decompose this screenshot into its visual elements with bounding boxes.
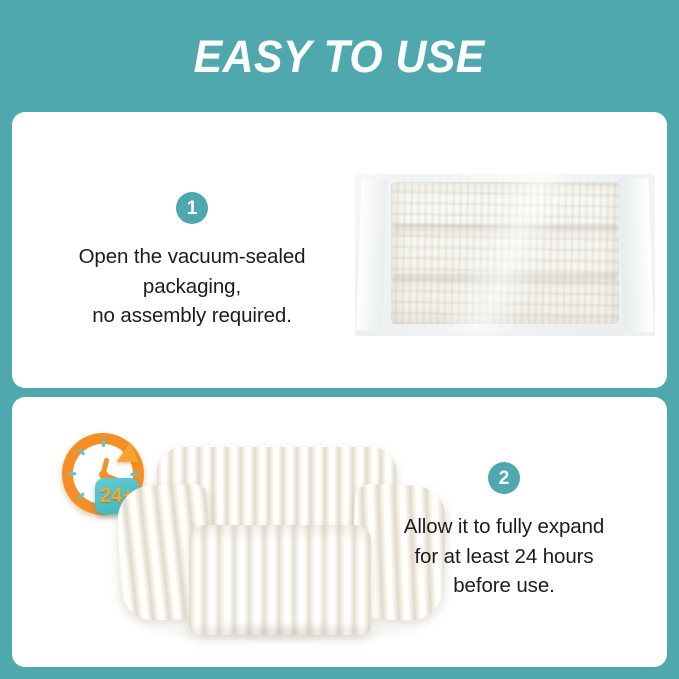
- step-2-number-badge: 2: [488, 462, 520, 494]
- bed-seat-cushion: [189, 525, 371, 635]
- header-banner: EASY TO USE: [0, 0, 679, 112]
- step-card-1: 1 Open the vacuum-sealed packaging, no a…: [12, 112, 667, 388]
- step-2-text-line-1: Allow it to fully expand: [359, 512, 649, 542]
- step-1-number-badge: 1: [176, 192, 208, 224]
- clock-tick-mark: [102, 439, 105, 447]
- easy-to-use-infographic: EASY TO USE 1 Open the vacuum-sealed pac…: [0, 0, 679, 679]
- step-1-text-line-2: packaging,: [22, 272, 362, 302]
- step-card-2: 24+ 2 Allow it to fully expand for: [12, 397, 667, 667]
- compression-band-lower: [393, 274, 617, 288]
- step-1-text-line-1: Open the vacuum-sealed: [22, 242, 362, 272]
- vacuum-sealed-package-image: [355, 170, 655, 340]
- step-2-text-line-2: for at least 24 hours: [359, 542, 649, 572]
- bed-drop-shadow: [143, 621, 425, 643]
- step-1-text-line-3: no assembly required.: [22, 301, 362, 331]
- step-2-content: 2 Allow it to fully expand for at least …: [359, 462, 649, 601]
- step-1-content: 1 Open the vacuum-sealed packaging, no a…: [22, 192, 362, 331]
- clock-tick-mark: [68, 473, 76, 476]
- step-2-text-line-3: before use.: [359, 571, 649, 601]
- compressed-bed-shape: [391, 182, 619, 324]
- compression-band-upper: [393, 224, 617, 238]
- page-title: EASY TO USE: [194, 34, 485, 79]
